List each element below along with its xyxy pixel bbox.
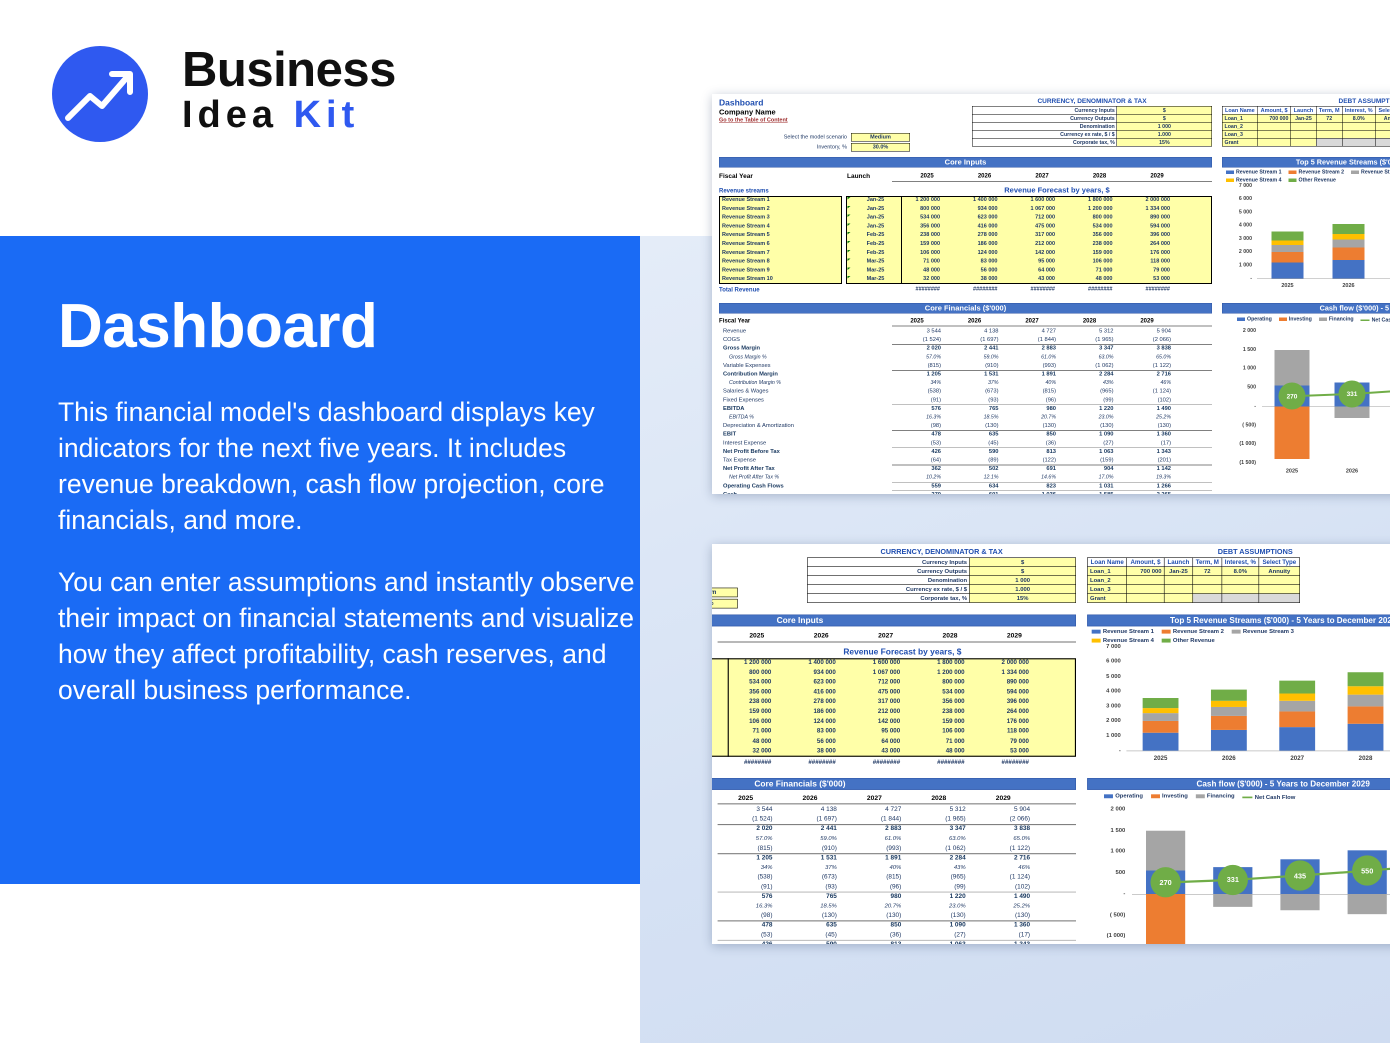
revenue-stream-value[interactable]: 118 000	[973, 728, 1029, 735]
revenue-stream-value[interactable]: 238 000	[890, 232, 940, 238]
y-axis-tick: 4 000	[1222, 222, 1252, 228]
cf-row-value: 1 205	[716, 854, 772, 861]
legend-swatch	[1351, 170, 1359, 174]
debt-cell[interactable]: Loan_2	[1222, 122, 1257, 130]
legend-swatch	[1092, 629, 1101, 633]
cf-row-label: Depreciation & Amortization	[723, 423, 794, 429]
debt-cell[interactable]	[1316, 130, 1342, 138]
debt-block-title: DEBT ASSUMPTIONS	[1087, 547, 1390, 555]
comment-marker-icon	[848, 215, 851, 218]
revenue-stream-value[interactable]: 159 000	[890, 241, 940, 247]
legend-label: Revenue Stream 3	[1243, 628, 1294, 635]
revenue-stream-value[interactable]: 43 000	[844, 747, 900, 754]
revenue-stream-value[interactable]: 238 000	[909, 708, 965, 715]
revenue-stream-value[interactable]: 712 000	[1005, 214, 1055, 220]
revenue-stream-value[interactable]: 317 000	[1005, 232, 1055, 238]
cf-row-value: 25.2%	[974, 902, 1030, 909]
revenue-stream-value[interactable]: 95 000	[1005, 258, 1055, 264]
cf-row-value: 426	[891, 448, 941, 454]
debt-cell[interactable]	[1164, 594, 1193, 603]
revenue-stream-value[interactable]: 416 000	[780, 688, 836, 695]
currency-row-label: Currency Inputs	[807, 558, 969, 567]
cf-row-value: 904	[1064, 466, 1114, 472]
cf-row-value: (130)	[781, 912, 837, 919]
cf-row-value: (993)	[1006, 362, 1056, 368]
legend-item: Revenue Stream 3	[1351, 169, 1390, 175]
hero-paragraph-1: This financial model's dashboard display…	[58, 394, 658, 538]
revenue-stream-value[interactable]: 934 000	[948, 205, 998, 211]
revenue-stream-value[interactable]: 1 334 000	[973, 669, 1029, 676]
cf-row-value: 1 343	[1121, 448, 1171, 454]
debt-cell[interactable]	[1164, 576, 1193, 585]
debt-block-title: DEBT ASSUMPTIONS	[1222, 97, 1390, 105]
debt-cell[interactable]: Grant	[1222, 138, 1257, 146]
revenue-stream-value[interactable]: 64 000	[1005, 267, 1055, 273]
revenue-stream-value[interactable]: 159 000	[1063, 249, 1113, 255]
revenue-stream-value[interactable]: 1 200 000	[890, 197, 940, 203]
revenue-stream-value[interactable]: 124 000	[780, 718, 836, 725]
debt-cell[interactable]	[1259, 576, 1300, 585]
debt-cell[interactable]	[1342, 122, 1375, 130]
legend-item: Revenue Stream 2	[1289, 169, 1345, 175]
revenue-stream-value[interactable]: 71 000	[890, 258, 940, 264]
currency-row-value[interactable]: 15%	[970, 594, 1076, 603]
currency-row-value[interactable]: 1.000	[970, 585, 1076, 594]
revenue-stream-value[interactable]: 142 000	[1005, 249, 1055, 255]
revenue-stream-value[interactable]: 1 200 000	[1063, 205, 1113, 211]
sheet-title: Dashboard	[719, 98, 763, 108]
debt-cell[interactable]: Loan_1	[1087, 567, 1126, 576]
toc-link[interactable]: Go to the Table of Content	[719, 117, 788, 123]
debt-cell[interactable]	[1375, 122, 1390, 130]
dashboard-screenshot-bottom[interactable]: DashboardCompany NameGo to the Table of …	[712, 544, 1390, 944]
revenue-stream-value[interactable]: 32 000	[890, 276, 940, 282]
revenue-stream-value[interactable]: 79 000	[973, 738, 1029, 745]
table-row: Corporate tax, %15%	[807, 594, 1075, 603]
revenue-stream-value[interactable]: 48 000	[715, 738, 771, 745]
revenue-stream-value[interactable]: 48 000	[1063, 276, 1113, 282]
debt-cell[interactable]	[1222, 576, 1259, 585]
revenue-stream-value[interactable]: 1 200 000	[715, 659, 771, 666]
revenue-stream-value[interactable]: 212 000	[1005, 241, 1055, 247]
y-axis-tick: 6 000	[1087, 658, 1121, 665]
debt-cell[interactable]: Loan_3	[1222, 130, 1257, 138]
cf-row-value: 5 904	[974, 806, 1030, 813]
cf-row-label: Revenue	[723, 328, 746, 334]
revenue-stream-value[interactable]: 623 000	[948, 214, 998, 220]
debt-cell[interactable]: 700 000	[1257, 114, 1290, 122]
revenue-stream-value[interactable]: 38 000	[948, 276, 998, 282]
revenue-stream-value[interactable]: 264 000	[973, 708, 1029, 715]
debt-cell[interactable]	[1291, 122, 1317, 130]
stacked-bar-segment	[1272, 232, 1304, 241]
net-cash-flow-line	[1087, 778, 1390, 944]
inventory-input[interactable]: 30.0%	[851, 143, 910, 152]
revenue-stream-value[interactable]: 238 000	[1063, 241, 1113, 247]
cf-row-value: 63.0%	[1064, 354, 1114, 360]
debt-cell[interactable]	[1193, 585, 1222, 594]
revenue-stream-name[interactable]: Revenue Stream 1	[722, 197, 770, 203]
cf-row-value: (2 066)	[1121, 337, 1171, 343]
cf-row-value: 1 205	[891, 371, 941, 377]
cf-row-value: 10.2%	[891, 474, 941, 480]
legend-item: Revenue Stream 1	[1092, 628, 1154, 635]
revenue-stream-value[interactable]: 56 000	[780, 738, 836, 745]
cf-row-value: (1 124)	[1121, 388, 1171, 394]
revenue-stream-value[interactable]: 48 000	[890, 267, 940, 273]
revenue-stream-name[interactable]: Revenue Stream 6	[722, 241, 770, 247]
debt-cell[interactable]: 72	[1193, 567, 1222, 576]
cf-row-value: (99)	[910, 883, 966, 890]
revenue-stream-value[interactable]: 176 000	[973, 718, 1029, 725]
debt-cell[interactable]: 8.0%	[1342, 114, 1375, 122]
table-row: Currency Outputs$	[972, 114, 1212, 122]
cf-row-value: 46%	[1121, 380, 1171, 386]
debt-cell[interactable]	[1164, 585, 1193, 594]
revenue-streams-label: Revenue streams	[719, 187, 769, 194]
revenue-stream-value[interactable]: 534 000	[890, 214, 940, 220]
cf-row-label: EBIT	[723, 431, 736, 437]
debt-cell[interactable]	[1291, 138, 1317, 146]
revenue-stream-value[interactable]: 800 000	[1063, 214, 1113, 220]
revenue-stream-value[interactable]: 124 000	[948, 249, 998, 255]
revenue-streams-chart-title: Top 5 Revenue Streams ($'000) - 5 Years …	[1087, 615, 1390, 627]
debt-cell[interactable]	[1222, 585, 1259, 594]
debt-cell[interactable]: Jan-25	[1164, 567, 1193, 576]
debt-cell[interactable]	[1127, 576, 1164, 585]
revenue-stream-value[interactable]: 95 000	[844, 728, 900, 735]
cf-row-value: 502	[949, 466, 999, 472]
cf-row-value: 34%	[891, 380, 941, 386]
revenue-stream-value[interactable]: 356 000	[890, 223, 940, 229]
revenue-stream-value[interactable]: 1 200 000	[909, 669, 965, 676]
revenue-stream-value[interactable]: 356 000	[909, 698, 965, 705]
cf-row-value: 4 138	[949, 328, 999, 334]
revenue-stream-value[interactable]: 106 000	[1063, 258, 1113, 264]
stacked-bar-segment	[1272, 240, 1304, 245]
debt-cell[interactable]: Annuity	[1259, 567, 1300, 576]
revenue-stream-value[interactable]: 1 334 000	[1120, 205, 1170, 211]
revenue-stream-value[interactable]: 106 000	[909, 728, 965, 735]
debt-cell[interactable]	[1316, 138, 1342, 146]
brand-name-line1: Business	[182, 46, 396, 95]
revenue-stream-value[interactable]: 176 000	[1120, 249, 1170, 255]
cf-year-header: 2026	[950, 317, 1000, 324]
revenue-stream-value[interactable]: 64 000	[844, 738, 900, 745]
cf-row-label: Gross Margin %	[729, 354, 767, 360]
stacked-bar-segment	[1279, 711, 1315, 727]
revenue-stream-value[interactable]: 56 000	[948, 267, 998, 273]
debt-cell[interactable]	[1259, 585, 1300, 594]
total-revenue-value: ########	[1120, 286, 1170, 292]
debt-cell[interactable]	[1193, 594, 1222, 603]
revenue-stream-value[interactable]: 212 000	[844, 708, 900, 715]
revenue-stream-value[interactable]: 2 000 000	[1120, 197, 1170, 203]
revenue-stream-value[interactable]: 32 000	[715, 747, 771, 754]
cf-row-value: 4 138	[781, 806, 837, 813]
revenue-stream-name[interactable]: Revenue Stream 5	[722, 232, 770, 238]
cf-row-value: 1 891	[845, 854, 901, 861]
revenue-stream-value[interactable]: 396 000	[973, 698, 1029, 705]
cf-row-value: 20.7%	[845, 902, 901, 909]
revenue-stream-value[interactable]: 278 000	[780, 698, 836, 705]
core-inputs-year-header: 2029	[1132, 172, 1182, 179]
cf-year-header: 2025	[892, 317, 942, 324]
revenue-stream-name[interactable]: Revenue Stream 3	[722, 214, 770, 220]
revenue-stream-value[interactable]: 142 000	[844, 718, 900, 725]
revenue-stream-value[interactable]: 934 000	[780, 669, 836, 676]
cf-row-value: (53)	[716, 931, 772, 938]
revenue-stream-value[interactable]: 534 000	[1063, 223, 1113, 229]
debt-cell[interactable]	[1257, 122, 1290, 130]
cf-row-label: Salaries & Wages	[723, 388, 768, 394]
y-axis-tick: -	[1087, 747, 1121, 754]
cf-row-value: 601	[949, 491, 999, 494]
revenue-stream-value[interactable]: 800 000	[890, 205, 940, 211]
cf-row-value: 14.6%	[1006, 474, 1056, 480]
currency-block-title: CURRENCY, DENOMINATOR & TAX	[807, 547, 1076, 555]
debt-cell[interactable]: Grant	[1087, 594, 1126, 603]
company-name: Company Name	[719, 108, 776, 117]
revenue-stream-value[interactable]: 800 000	[909, 679, 965, 686]
x-axis-line	[1257, 279, 1390, 280]
net-cash-flow-bubble: 550	[1352, 856, 1382, 886]
revenue-stream-value[interactable]: 264 000	[1120, 241, 1170, 247]
revenue-stream-value[interactable]: 71 000	[715, 728, 771, 735]
currency-row-value[interactable]: 1.000	[1117, 130, 1212, 138]
debt-col-header: Launch	[1291, 106, 1317, 114]
revenue-stream-value[interactable]: 623 000	[780, 679, 836, 686]
cf-row-value: 1 360	[974, 922, 1030, 929]
currency-row-value[interactable]: $	[1117, 114, 1212, 122]
cf-row-value: 3 544	[891, 328, 941, 334]
revenue-stream-name[interactable]: Revenue Stream 2	[722, 205, 770, 211]
total-revenue-label: Total Revenue	[719, 286, 760, 293]
currency-row-value[interactable]: 1 000	[970, 576, 1076, 585]
debt-cell[interactable]: Loan_2	[1087, 576, 1126, 585]
cf-row-value: (1 965)	[1064, 337, 1114, 343]
debt-col-header: Loan Name	[1087, 558, 1126, 567]
debt-cell[interactable]: 700 000	[1127, 567, 1164, 576]
revenue-stream-name[interactable]: Revenue Stream 10	[722, 276, 773, 282]
cf-row-value: 691	[1006, 466, 1056, 472]
cf-row-value: (910)	[949, 362, 999, 368]
cf-year-header: 2027	[1007, 317, 1057, 324]
brand-logo: Business Idea Kit	[52, 38, 452, 148]
currency-row-value[interactable]: $	[970, 567, 1076, 576]
cf-row-value: (130)	[949, 423, 999, 429]
revenue-stream-value[interactable]: 238 000	[715, 698, 771, 705]
cf-row-value: 635	[949, 431, 999, 437]
debt-cell[interactable]	[1291, 130, 1317, 138]
cf-row-value: 2 284	[1064, 371, 1114, 377]
revenue-stream-value[interactable]: 1 067 000	[1005, 205, 1055, 211]
revenue-stream-name[interactable]: Revenue Stream 7	[722, 249, 770, 255]
legend-swatch	[1232, 629, 1241, 633]
debt-cell[interactable]	[1342, 130, 1375, 138]
cf-row-value: (17)	[974, 931, 1030, 938]
revenue-stream-value[interactable]: 106 000	[715, 718, 771, 725]
revenue-stream-value[interactable]: 106 000	[890, 249, 940, 255]
revenue-stream-value[interactable]: 1 400 000	[780, 659, 836, 666]
core-inputs-year-header: 2029	[986, 631, 1042, 639]
revenue-stream-value[interactable]: 396 000	[1120, 232, 1170, 238]
currency-row-value[interactable]: $	[1117, 106, 1212, 114]
revenue-stream-value[interactable]: 416 000	[948, 223, 998, 229]
cf-row-value: (130)	[845, 912, 901, 919]
currency-row-value[interactable]: $	[970, 558, 1076, 567]
currency-row-label: Currency ex rate, $ / $	[807, 585, 969, 594]
scenario-select[interactable]: Medium	[712, 588, 738, 598]
revenue-stream-value[interactable]: 1 800 000	[909, 659, 965, 666]
cf-row-value: 634	[949, 483, 999, 489]
revenue-stream-value[interactable]: 186 000	[780, 708, 836, 715]
x-axis-tick: 2027	[1275, 755, 1320, 762]
total-revenue-value: ########	[715, 759, 771, 766]
currency-row-value[interactable]: 15%	[1117, 138, 1212, 146]
debt-cell[interactable]	[1257, 138, 1290, 146]
cf-row-value: 16.3%	[891, 414, 941, 420]
cf-row-value: 2 716	[1121, 371, 1171, 377]
y-axis-tick: 1 000	[1222, 262, 1252, 268]
currency-row-value[interactable]: 1 000	[1117, 122, 1212, 130]
core-inputs-year-header: 2025	[729, 631, 785, 639]
revenue-stream-value[interactable]: 594 000	[973, 688, 1029, 695]
revenue-stream-value[interactable]: 53 000	[1120, 276, 1170, 282]
revenue-stream-value[interactable]: 534 000	[715, 679, 771, 686]
revenue-stream-value[interactable]: 356 000	[1063, 232, 1113, 238]
table-row: Currency Outputs$	[807, 567, 1075, 576]
cf-row-value: (45)	[781, 931, 837, 938]
revenue-stream-value[interactable]: 186 000	[948, 241, 998, 247]
revenue-stream-value[interactable]: 712 000	[844, 679, 900, 686]
revenue-stream-value[interactable]: 1 600 000	[844, 659, 900, 666]
debt-cell[interactable]: Jan-25	[1291, 114, 1317, 122]
legend-label: Revenue Stream 2	[1173, 628, 1224, 635]
revenue-stream-value[interactable]: 800 000	[715, 669, 771, 676]
debt-cell[interactable]	[1193, 576, 1222, 585]
cf-row-value: (815)	[716, 845, 772, 852]
revenue-stream-name[interactable]: Revenue Stream 8	[722, 258, 770, 264]
cf-row-value: (89)	[949, 457, 999, 463]
revenue-stream-value[interactable]: 475 000	[1005, 223, 1055, 229]
hero-text-block: Dashboard This financial model's dashboa…	[58, 296, 658, 734]
cf-row-value: (1 122)	[1121, 362, 1171, 368]
cf-row-value: (673)	[781, 873, 837, 880]
revenue-stream-value[interactable]: 159 000	[715, 708, 771, 715]
revenue-stream-value[interactable]: 1 400 000	[948, 197, 998, 203]
revenue-stream-value[interactable]: 1 800 000	[1063, 197, 1113, 203]
total-revenue-value: ########	[948, 286, 998, 292]
stacked-bar-segment	[1333, 260, 1365, 279]
debt-cell[interactable]	[1259, 594, 1300, 603]
revenue-stream-value[interactable]: 475 000	[844, 688, 900, 695]
core-inputs-year-header: 2028	[1075, 172, 1125, 179]
core-inputs-year-header: 2026	[793, 631, 849, 639]
cf-row-value: 2 883	[845, 825, 901, 832]
inventory-input[interactable]: 30.0%	[712, 599, 738, 609]
debt-cell[interactable]	[1127, 585, 1164, 594]
brand-name-line2: Idea Kit	[182, 96, 396, 136]
cf-row-value: 43%	[1064, 380, 1114, 386]
revenue-stream-value[interactable]: 1 067 000	[844, 669, 900, 676]
debt-cell[interactable]	[1222, 594, 1259, 603]
cf-row-value: (1 697)	[781, 816, 837, 823]
dashboard-screenshot-top[interactable]: DashboardCompany NameGo to the Table of …	[712, 94, 1390, 494]
revenue-stream-value[interactable]: 2 000 000	[973, 659, 1029, 666]
revenue-stream-value[interactable]: 53 000	[973, 747, 1029, 754]
revenue-stream-value[interactable]: 48 000	[909, 747, 965, 754]
revenue-stream-value[interactable]: 317 000	[844, 698, 900, 705]
cf-row-label: Gross Margin	[723, 345, 760, 351]
revenue-stream-name[interactable]: Revenue Stream 9	[722, 267, 770, 273]
revenue-stream-value[interactable]: 43 000	[1005, 276, 1055, 282]
debt-cell[interactable]: 72	[1316, 114, 1342, 122]
revenue-stream-value[interactable]: 79 000	[1120, 267, 1170, 273]
y-axis-tick: 3 000	[1222, 235, 1252, 241]
debt-cell[interactable]	[1316, 122, 1342, 130]
cf-row-value: 3 347	[910, 825, 966, 832]
cash-flow-chart: Cash flow ($'000) - 5 Years to December …	[1222, 303, 1390, 483]
debt-cell[interactable]: Loan_1	[1222, 114, 1257, 122]
revenue-stream-value[interactable]: 594 000	[1120, 223, 1170, 229]
debt-cell[interactable]	[1375, 138, 1390, 146]
debt-cell[interactable]: Loan_3	[1087, 585, 1126, 594]
revenue-stream-value[interactable]: 118 000	[1120, 258, 1170, 264]
header-rule	[718, 641, 1076, 642]
cf-row-value: (130)	[1121, 423, 1171, 429]
revenue-stream-name[interactable]: Revenue Stream 4	[722, 223, 770, 229]
cf-year-header: 2027	[846, 794, 902, 802]
cf-row-value: 18.5%	[781, 902, 837, 909]
revenue-stream-value[interactable]: 83 000	[948, 258, 998, 264]
y-axis-tick: -	[1222, 275, 1252, 281]
cf-row-value: 765	[949, 405, 999, 411]
revenue-stream-value[interactable]: 159 000	[909, 718, 965, 725]
revenue-stream-value[interactable]: 38 000	[780, 747, 836, 754]
debt-cell[interactable]: Annuity	[1375, 114, 1390, 122]
debt-cell[interactable]	[1257, 130, 1290, 138]
y-axis-tick: 2 000	[1222, 249, 1252, 255]
debt-cell[interactable]	[1127, 594, 1164, 603]
debt-cell[interactable]: 8.0%	[1222, 567, 1259, 576]
chart-legend: Revenue Stream 1Revenue Stream 2Revenue …	[1092, 628, 1302, 635]
revenue-stream-value[interactable]: 356 000	[715, 688, 771, 695]
debt-cell[interactable]	[1375, 130, 1390, 138]
x-axis-line	[1126, 751, 1390, 752]
revenue-stream-value[interactable]: 278 000	[948, 232, 998, 238]
revenue-stream-value[interactable]: 1 600 000	[1005, 197, 1055, 203]
cf-row-value: 3 838	[974, 825, 1030, 832]
launch-label: Launch	[847, 172, 870, 180]
cf-row-value: 23.0%	[1064, 414, 1114, 420]
cf-row-value: (102)	[974, 883, 1030, 890]
currency-row-label: Corporate tax, %	[807, 594, 969, 603]
scenario-select[interactable]: Medium	[851, 133, 910, 142]
debt-col-header: Select Type	[1375, 106, 1390, 114]
revenue-stream-value[interactable]: 83 000	[780, 728, 836, 735]
revenue-stream-value[interactable]: 71 000	[909, 738, 965, 745]
comment-marker-icon	[848, 223, 851, 226]
cf-row-value: (130)	[1064, 423, 1114, 429]
revenue-stream-value[interactable]: 71 000	[1063, 267, 1113, 273]
legend-swatch	[1092, 638, 1101, 642]
total-revenue-value: ########	[909, 759, 965, 766]
revenue-stream-value[interactable]: 890 000	[973, 679, 1029, 686]
revenue-stream-value[interactable]: 534 000	[909, 688, 965, 695]
debt-cell[interactable]	[1342, 138, 1375, 146]
revenue-stream-value[interactable]: 890 000	[1120, 214, 1170, 220]
